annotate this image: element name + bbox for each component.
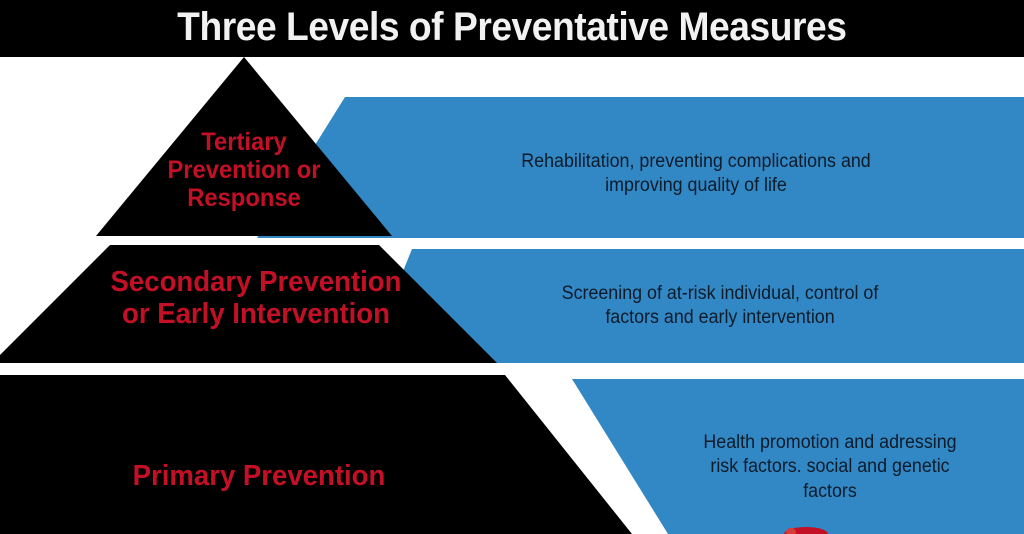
panel-description-secondary: Screening of at-risk individual, control… xyxy=(483,282,957,331)
tier-label-secondary: Secondary Prevention or Early Interventi… xyxy=(58,266,453,331)
panel-description-primary: Health promotion and adressing risk fact… xyxy=(651,431,1008,504)
tier-label-tertiary: Tertiary Prevention or Response xyxy=(126,128,362,212)
pyramid-tier-primary xyxy=(0,375,632,534)
panel-description-tertiary: Rehabilitation, preventing complications… xyxy=(448,150,944,199)
infographic-canvas: Three Levels of Preventative Measures Te… xyxy=(0,0,1024,534)
tier-label-primary: Primary Prevention xyxy=(66,460,452,492)
